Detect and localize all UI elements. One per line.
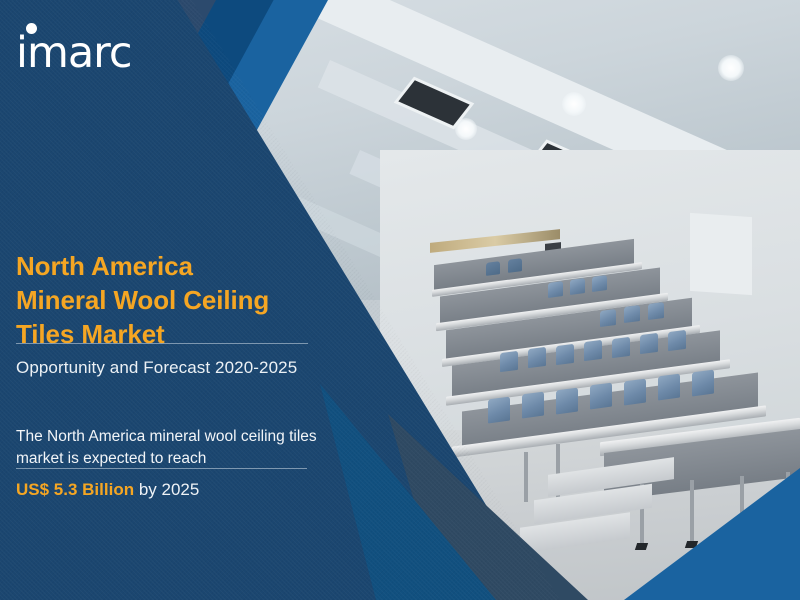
imarc-logo[interactable]: imarc xyxy=(16,18,146,70)
market-value-statement: US$ 5.3 Billion by 2025 xyxy=(16,480,199,500)
report-subtitle: Opportunity and Forecast 2020-2025 xyxy=(16,358,297,378)
figure-divider xyxy=(16,468,307,469)
page-title-line-3: Tiles Market xyxy=(16,318,321,352)
logo-wordmark: imarc xyxy=(16,32,132,75)
page-title: North America Mineral Wool Ceiling Tiles… xyxy=(16,250,321,351)
report-cover: imarc North America Mineral Wool Ceiling… xyxy=(0,0,800,600)
title-divider xyxy=(16,343,308,344)
page-title-line-1: North America xyxy=(16,250,321,284)
market-value-amount: US$ 5.3 Billion xyxy=(16,480,134,499)
cover-content: imarc North America Mineral Wool Ceiling… xyxy=(0,0,800,600)
lead-statement: The North America mineral wool ceiling t… xyxy=(16,426,326,470)
market-value-suffix: by 2025 xyxy=(134,480,199,499)
page-title-line-2: Mineral Wool Ceiling xyxy=(16,284,321,318)
